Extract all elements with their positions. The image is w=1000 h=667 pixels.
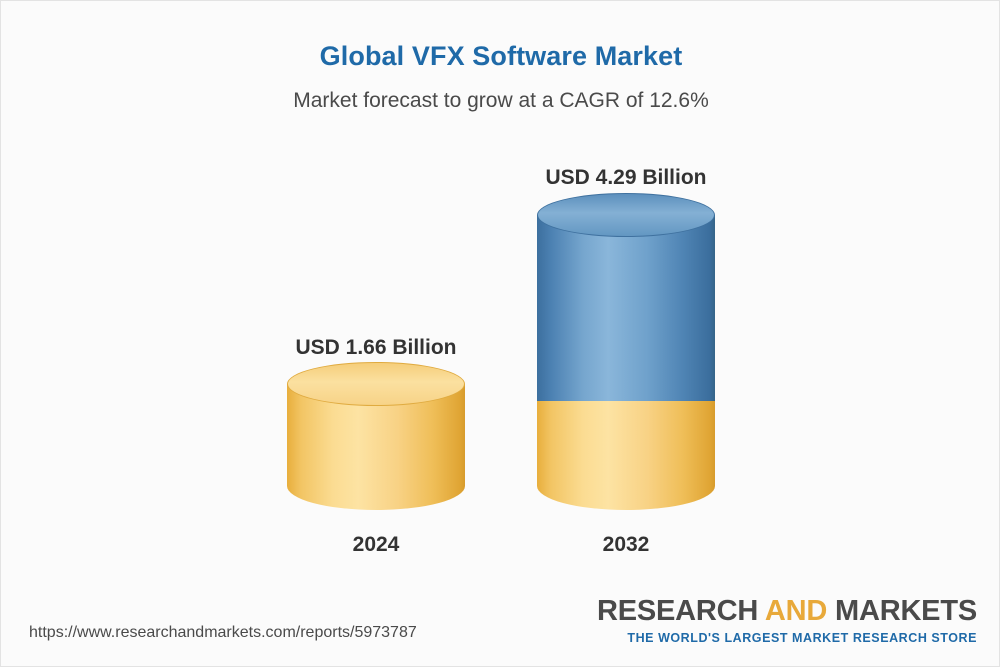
- chart-subtitle: Market forecast to grow at a CAGR of 12.…: [1, 89, 1000, 113]
- brand-wordmark: RESEARCH AND MARKETS: [597, 597, 977, 626]
- bar-top-ellipse-2024: [287, 362, 465, 406]
- brand-word-markets: MARKETS: [835, 595, 977, 627]
- source-url[interactable]: https://www.researchandmarkets.com/repor…: [29, 624, 417, 642]
- bar-value-label-2024: USD 1.66 Billion: [287, 336, 465, 360]
- bar-value-label-2032: USD 4.29 Billion: [537, 166, 715, 190]
- bar-top-ellipse-2032: [537, 193, 715, 237]
- bar-cylinder-2024: [287, 384, 465, 510]
- chart-canvas: Global VFX Software Market Market foreca…: [0, 0, 1000, 667]
- bar-cylinder-2032: [537, 215, 715, 510]
- bar-body-upper-2032: [537, 215, 715, 401]
- category-label-2024: 2024: [287, 533, 465, 557]
- brand-word-research: RESEARCH: [597, 595, 758, 627]
- brand-tagline: THE WORLD'S LARGEST MARKET RESEARCH STOR…: [597, 632, 977, 645]
- chart-title: Global VFX Software Market: [1, 41, 1000, 72]
- brand-logo: RESEARCH AND MARKETS THE WORLD'S LARGEST…: [597, 597, 977, 645]
- category-label-2032: 2032: [537, 533, 715, 557]
- brand-word-and: AND: [765, 595, 827, 627]
- bar-body-lower-2032: [537, 401, 715, 510]
